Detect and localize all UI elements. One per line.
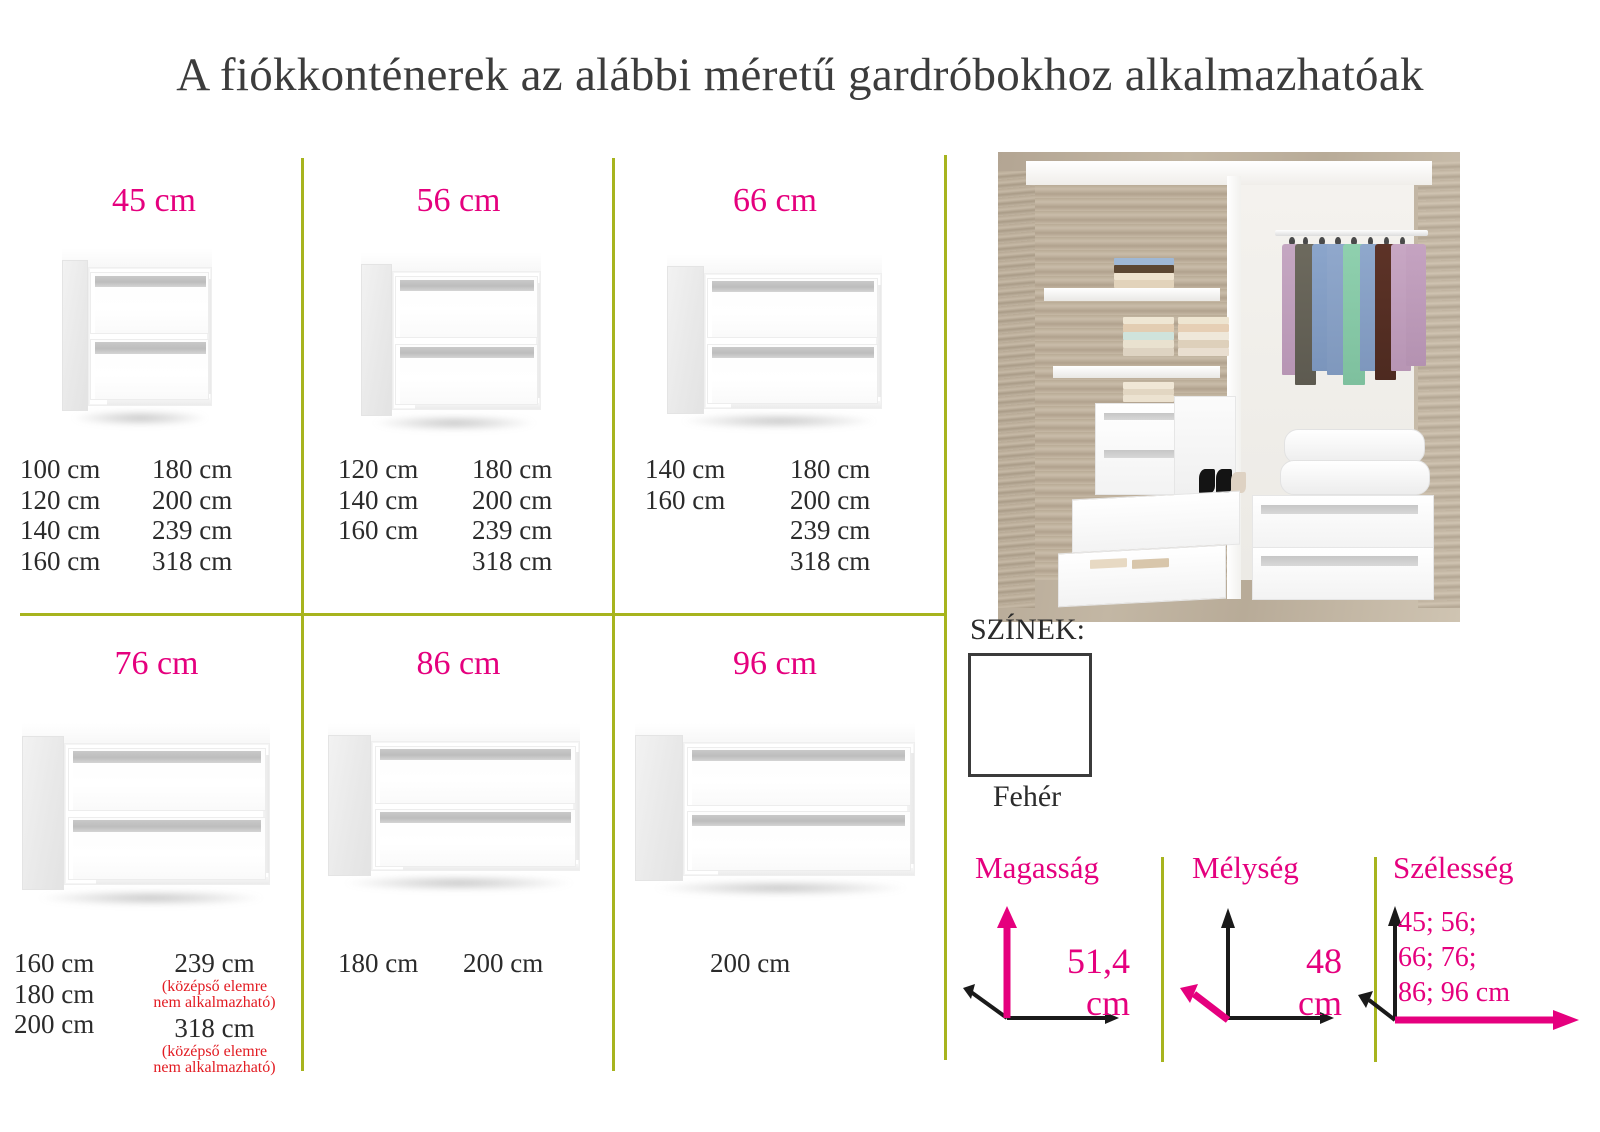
infographic-root: A fiókkonténerek az alábbi méretű gardró…	[0, 0, 1600, 1132]
size-list: 180 cm 200 cm	[338, 948, 588, 979]
size-value: 239 cm	[472, 515, 552, 546]
width-axis-value-line2: 66; 76;	[1398, 940, 1598, 975]
grid-vline-4	[301, 616, 304, 1071]
drawer-unit-icon	[361, 252, 541, 428]
height-axis-value-number: 51,4	[1010, 940, 1130, 982]
size-value: 160 cm	[14, 948, 94, 979]
colors-label: SZÍNEK:	[970, 613, 1085, 647]
grid-vline-axis-1	[1161, 857, 1164, 1062]
size-value: 140 cm	[20, 515, 100, 546]
depth-axis-value-number: 48	[1230, 940, 1342, 982]
grid-vline-1	[301, 158, 304, 614]
size-list-col-right: 180 cm 200 cm 239 cm 318 cm	[472, 454, 612, 576]
size-value: 200 cm	[152, 485, 232, 516]
size-value: 239 cm	[174, 948, 254, 979]
size-list: 100 cm 120 cm 140 cm 160 cm 180 cm 200 c…	[20, 454, 292, 576]
width-axis-value: 45; 56; 66; 76; 86; 96 cm	[1398, 905, 1598, 1010]
depth-axis-value: 48 cm	[1230, 940, 1342, 1025]
height-axis-value: 51,4 cm	[1010, 940, 1130, 1025]
size-value: 160 cm	[20, 546, 100, 577]
size-value: 200 cm	[14, 1009, 94, 1040]
size-list-col-left: 180 cm	[338, 948, 463, 979]
drawer-unit-icon	[22, 723, 270, 903]
page-title: A fiókkonténerek az alábbi méretű gardró…	[0, 48, 1600, 102]
size-note: nem alkalmazható)	[153, 1060, 275, 1076]
size-value: 140 cm	[645, 454, 725, 485]
size-value: 239 cm	[790, 515, 870, 546]
size-value: 100 cm	[20, 454, 100, 485]
size-list: 160 cm 180 cm 200 cm 239 cm (középső ele…	[14, 948, 297, 1076]
size-list: 120 cm 140 cm 160 cm 180 cm 200 cm 239 c…	[338, 454, 612, 576]
size-value: 200 cm	[790, 485, 870, 516]
width-axis-value-line3: 86; 96 cm	[1398, 975, 1598, 1010]
size-cell-56: 56 cm 120 cm 140 cm 160 cm 18	[316, 182, 601, 602]
color-swatch-white[interactable]	[968, 653, 1092, 777]
size-value: 120 cm	[338, 454, 418, 485]
size-value: 140 cm	[338, 485, 418, 516]
width-axis-title: Szélesség	[1393, 850, 1514, 886]
drawer-unit-icon	[328, 723, 580, 888]
size-note: nem alkalmazható)	[153, 995, 275, 1011]
size-list-col-right: 239 cm (középső elemre nem alkalmazható)…	[132, 948, 297, 1076]
size-note: (középső elemre	[162, 979, 267, 995]
drawer-unit-icon	[635, 723, 915, 893]
size-value: 180 cm	[790, 454, 870, 485]
size-list: 200 cm	[710, 948, 840, 979]
size-value: 200 cm	[710, 948, 790, 979]
color-swatch-label: Fehér	[968, 780, 1086, 814]
size-value: 120 cm	[20, 485, 100, 516]
size-value: 180 cm	[14, 979, 94, 1010]
height-axis-value-unit: cm	[1010, 982, 1130, 1024]
size-list-col-left: 200 cm	[710, 948, 840, 979]
size-list-col-left: 120 cm 140 cm 160 cm	[338, 454, 472, 576]
grid-vline-3	[944, 155, 947, 1060]
size-list-col-right: 180 cm 200 cm 239 cm 318 cm	[790, 454, 930, 576]
size-value: 180 cm	[472, 454, 552, 485]
size-cell-66: 66 cm 140 cm 160 cm 180 cm 20	[625, 182, 925, 602]
size-value: 160 cm	[338, 515, 418, 546]
size-cell-86: 86 cm 180 cm 200 cm	[316, 645, 601, 1065]
depth-axis-title: Mélység	[1192, 850, 1299, 886]
height-axis-title: Magasság	[975, 850, 1099, 886]
width-axis-value-line1: 45; 56;	[1398, 905, 1598, 940]
size-list-col-right: 180 cm 200 cm 239 cm 318 cm	[152, 454, 292, 576]
size-cell-heading: 96 cm	[625, 645, 925, 683]
size-value: 200 cm	[463, 948, 543, 979]
size-value: 180 cm	[338, 948, 418, 979]
size-list-col-left: 160 cm 180 cm 200 cm	[14, 948, 132, 1076]
size-cell-96: 96 cm 200 cm	[625, 645, 925, 1065]
size-value: 200 cm	[472, 485, 552, 516]
size-list: 140 cm 160 cm 180 cm 200 cm 239 cm 318 c…	[645, 454, 930, 576]
size-cell-76: 76 cm 160 cm 180 cm 200 cm 23	[14, 645, 299, 1115]
size-value: 318 cm	[472, 546, 552, 577]
size-value: 318 cm	[790, 546, 870, 577]
wardrobe-photo	[998, 152, 1460, 622]
size-list-col-right: 200 cm	[463, 948, 588, 979]
size-cell-heading: 86 cm	[316, 645, 601, 683]
size-cell-45: 45 cm 100 cm 120 cm 140 cm 160 cm	[14, 182, 294, 602]
size-value: 180 cm	[152, 454, 232, 485]
size-list-col-left: 100 cm 120 cm 140 cm 160 cm	[20, 454, 152, 576]
size-value: 318 cm	[174, 1013, 254, 1044]
size-cell-heading: 56 cm	[316, 182, 601, 220]
drawer-unit-icon	[62, 248, 212, 423]
drawer-unit-icon	[667, 254, 882, 426]
size-list-col-left: 140 cm 160 cm	[645, 454, 790, 576]
size-value: 239 cm	[152, 515, 232, 546]
size-cell-heading: 66 cm	[625, 182, 925, 220]
depth-axis-value-unit: cm	[1230, 982, 1342, 1024]
grid-hline-mid	[20, 613, 947, 616]
grid-vline-5	[612, 616, 615, 1071]
size-cell-heading: 76 cm	[14, 645, 299, 683]
size-note: (középső elemre	[162, 1044, 267, 1060]
grid-vline-2	[612, 158, 615, 614]
size-cell-heading: 45 cm	[14, 182, 294, 220]
size-value: 160 cm	[645, 485, 725, 516]
size-value: 318 cm	[152, 546, 232, 577]
